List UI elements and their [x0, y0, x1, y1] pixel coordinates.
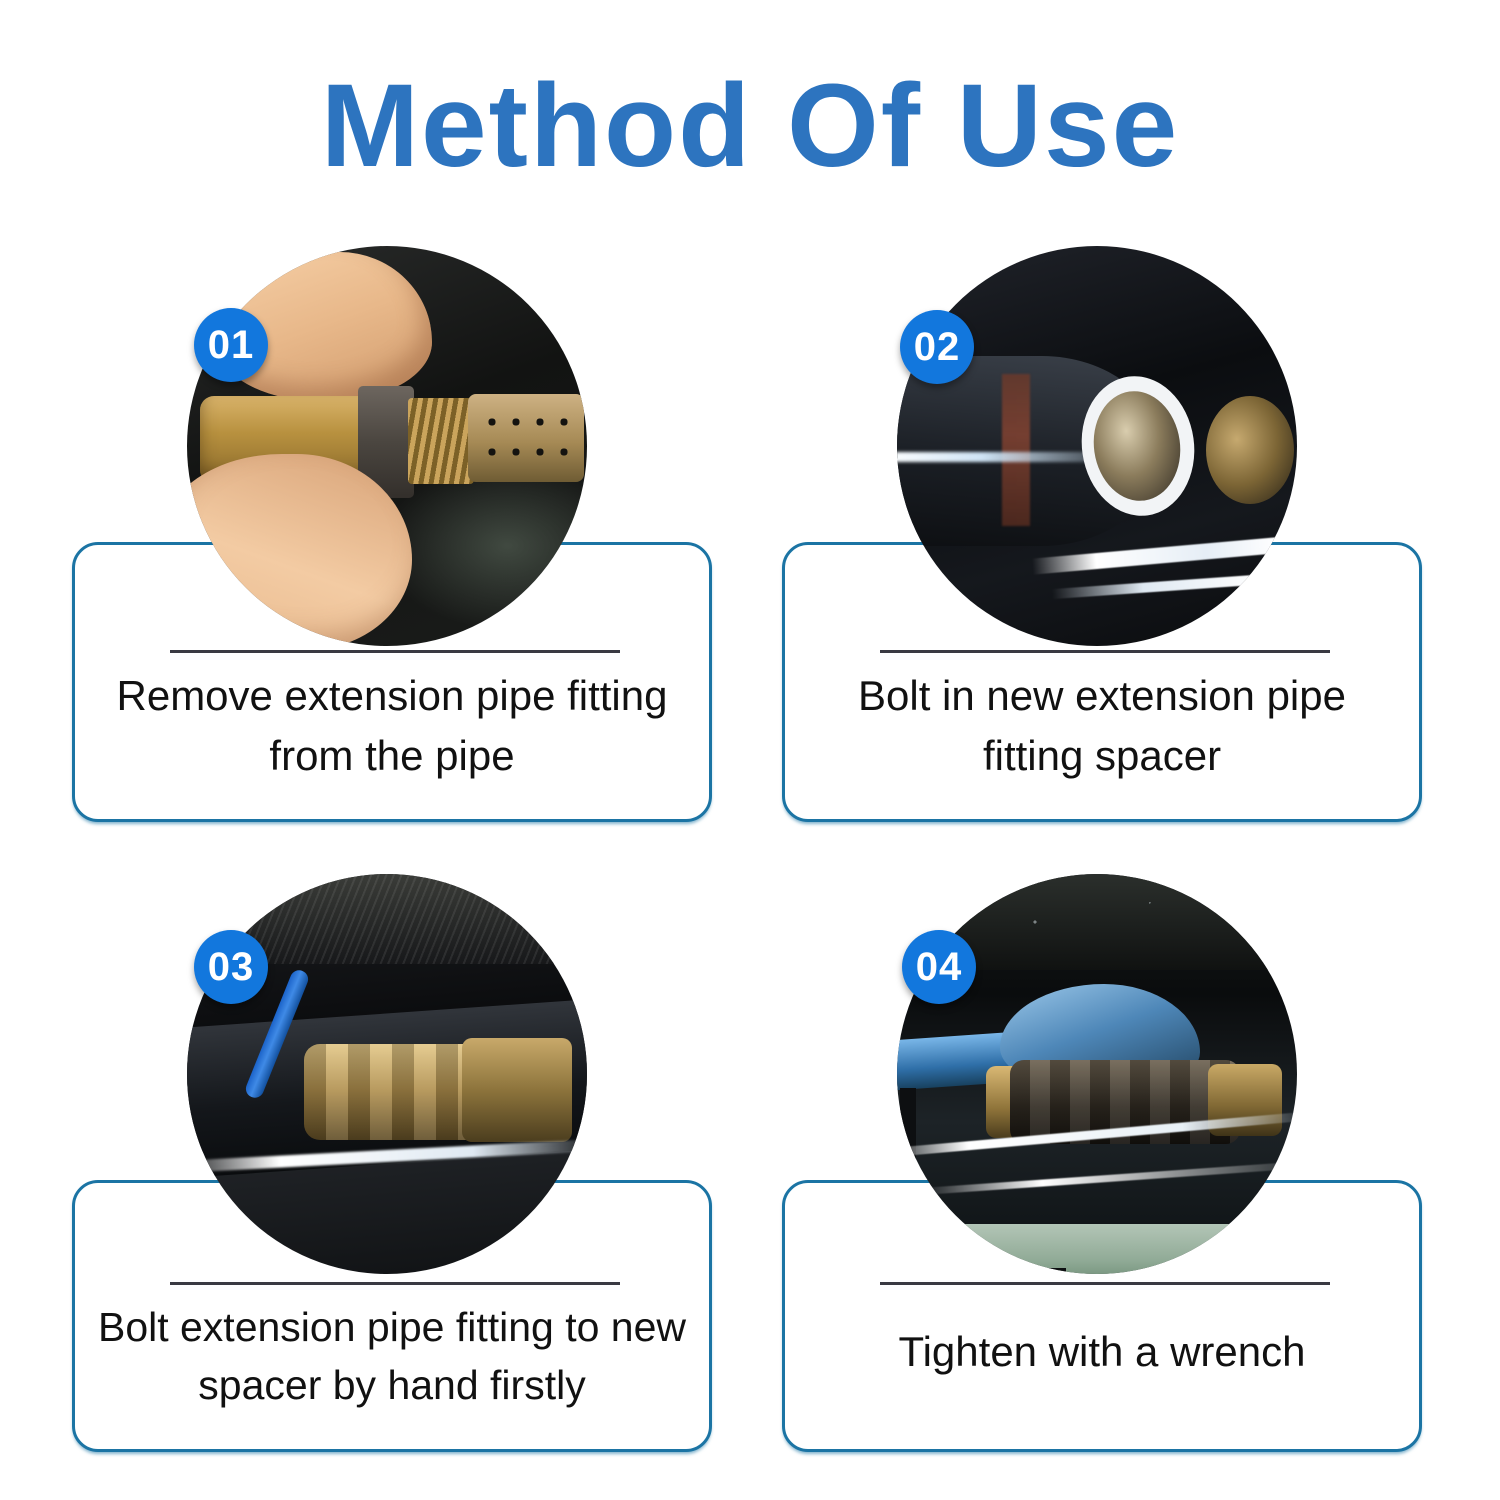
caption-divider	[880, 1282, 1330, 1285]
step-badge-04: 04	[902, 930, 976, 1004]
step-caption-04: Tighten with a wrench	[806, 1322, 1398, 1382]
secondary-bung-shape	[1206, 396, 1294, 504]
step-caption-01: Remove extension pipe fitting from the p…	[96, 666, 688, 785]
vent-holes-shape	[482, 412, 576, 464]
step-badge-03: 03	[194, 930, 268, 1004]
page-title: Method Of Use	[0, 62, 1500, 192]
step-badge-02: 02	[900, 310, 974, 384]
step-caption-02: Bolt in new extension pipe fitting space…	[806, 666, 1398, 785]
undercarriage-texture-shape	[212, 874, 602, 964]
weld-seam-shape	[1002, 374, 1030, 526]
caption-divider	[880, 650, 1330, 653]
caption-divider	[170, 1282, 620, 1285]
hex-body-shape	[462, 1038, 572, 1142]
caption-divider	[170, 650, 620, 653]
step-caption-03: Bolt extension pipe fitting to new space…	[96, 1298, 688, 1414]
step-badge-01: 01	[194, 308, 268, 382]
thread-shape	[408, 398, 474, 484]
